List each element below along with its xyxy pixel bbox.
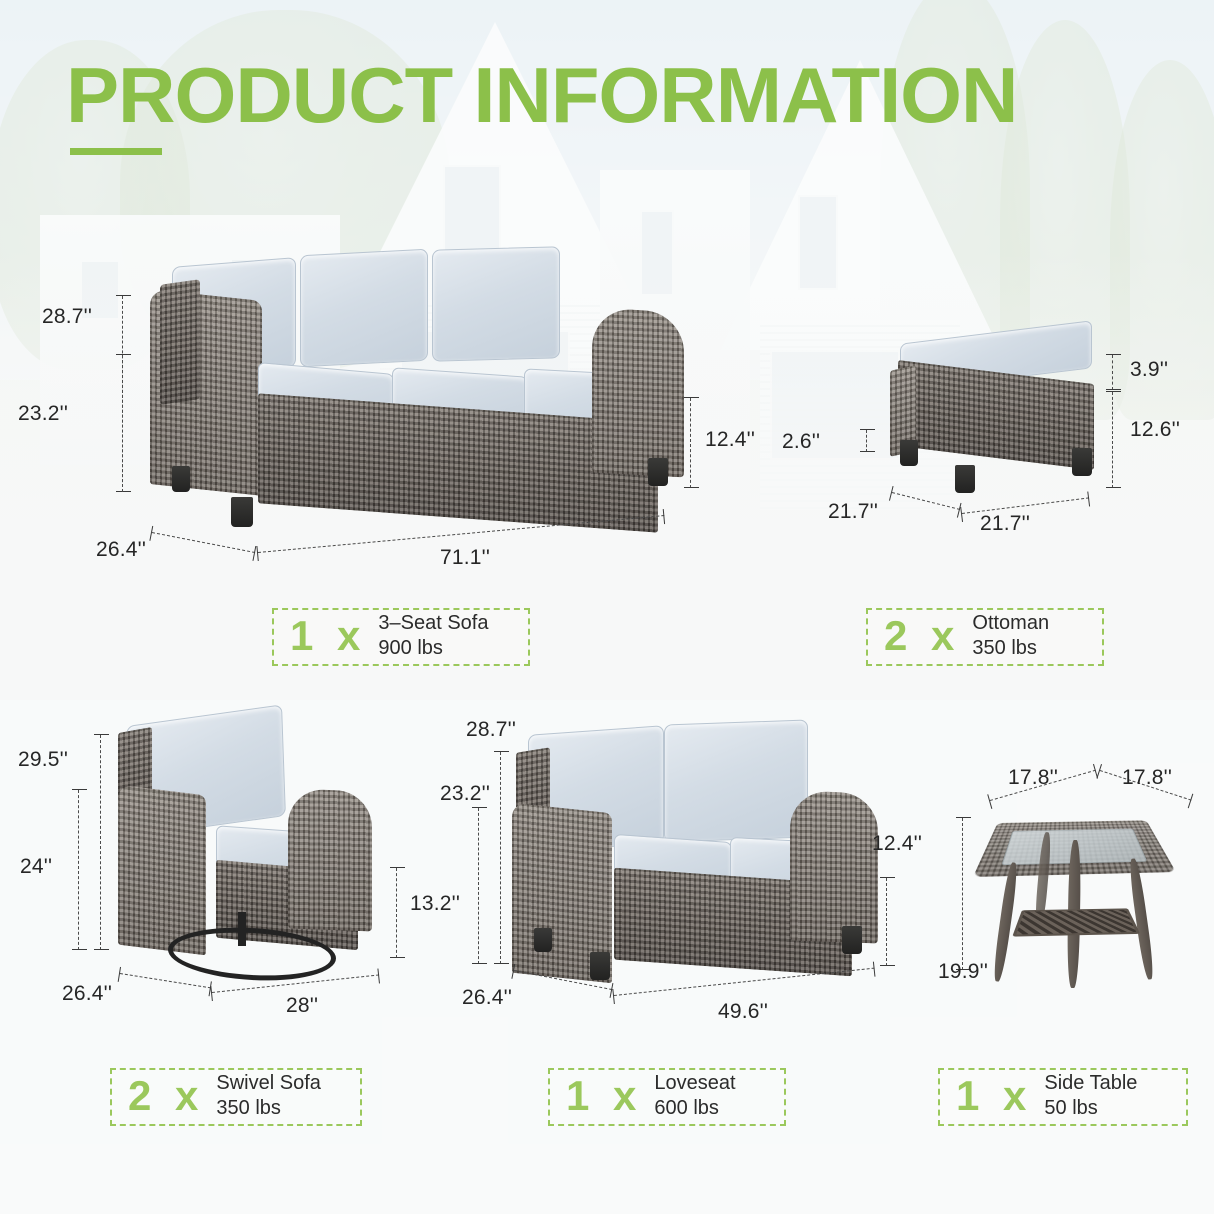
- swivel-left-arm: [118, 785, 206, 956]
- loveseat-right-arm: [790, 790, 878, 943]
- badge-qty-swivel-sofa: 2 x: [128, 1075, 204, 1117]
- badge-ottoman[interactable]: 2 x Ottoman 350 lbs: [866, 608, 1104, 666]
- badge-qty-ottoman: 2 x: [884, 615, 960, 657]
- badge-loveseat[interactable]: 1 x Loveseat 600 lbs: [548, 1068, 786, 1126]
- badge-name-ottoman: Ottoman: [972, 611, 1049, 636]
- loveseat-foot-front-right: [842, 926, 862, 954]
- badge-side-table[interactable]: 1 x Side Table 50 lbs: [938, 1068, 1188, 1126]
- side-table-top-width-label: 17.8'': [1122, 766, 1172, 790]
- sofa-back-rail: [160, 279, 200, 405]
- side-table-top-depth-label: 17.8'': [1008, 766, 1058, 790]
- loveseat-depth-label: 26.4'': [462, 986, 512, 1010]
- badge-weight-swivel-sofa: 350 lbs: [216, 1096, 321, 1121]
- side-table-height-line: [962, 818, 963, 970]
- badge-weight-loveseat: 600 lbs: [654, 1096, 735, 1121]
- ottoman-leg-height-line: [866, 430, 867, 452]
- swivel-depth-label: 26.4'': [62, 982, 112, 1006]
- badge-weight-side-table: 50 lbs: [1044, 1096, 1137, 1121]
- ottoman-leg-height-label: 2.6'': [782, 430, 820, 454]
- loveseat-arm-height-line: [478, 808, 479, 964]
- side-table-leg-front-left: [992, 862, 1020, 982]
- sofa-right-arm: [592, 308, 684, 478]
- sofa-width-label: 71.1'': [440, 546, 490, 570]
- badge-weight-three-seat-sofa: 900 lbs: [378, 636, 488, 661]
- loveseat-arm-height-label: 23.2'': [440, 782, 490, 806]
- loveseat-overall-height-line: [500, 752, 501, 964]
- loveseat-width-label: 49.6'': [718, 1000, 768, 1024]
- side-table-height-label: 19.9'': [938, 960, 988, 984]
- ottoman-body: [898, 360, 1094, 470]
- swivel-overall-height-line: [100, 735, 101, 950]
- loveseat-foot-front-left: [590, 952, 610, 980]
- sofa-arm-height-line: [122, 355, 123, 492]
- badge-swivel-sofa[interactable]: 2 x Swivel Sofa 350 lbs: [110, 1068, 362, 1126]
- sofa-depth-line: [152, 532, 255, 553]
- swivel-right-arm: [288, 789, 372, 932]
- loveseat-overall-height-label: 28.7'': [466, 718, 516, 742]
- ottoman-depth-line: [892, 492, 960, 510]
- ottoman-overall-height-line: [1112, 392, 1113, 488]
- badge-name-side-table: Side Table: [1044, 1071, 1137, 1096]
- sofa-seat-height-line: [690, 398, 691, 488]
- ottoman-foot-left: [900, 440, 918, 466]
- sofa-depth-label: 26.4'': [96, 538, 146, 562]
- page-title: PRODUCT INFORMATION: [66, 56, 1017, 134]
- badge-name-swivel-sofa: Swivel Sofa: [216, 1071, 321, 1096]
- loveseat-seat-height-line: [886, 878, 887, 966]
- swivel-width-label: 28'': [286, 994, 318, 1018]
- ottoman-cushion-height-label: 3.9'': [1130, 358, 1168, 382]
- swivel-overall-height-label: 29.5'': [18, 748, 68, 772]
- sofa-foot-front-left: [231, 497, 253, 527]
- sofa-foot-back-left: [172, 466, 190, 492]
- sofa-overall-height-label: 28.7'': [42, 305, 92, 329]
- loveseat-back-cushion-2: [664, 719, 808, 842]
- badge-three-seat-sofa[interactable]: 1 x 3–Seat Sofa 900 lbs: [272, 608, 530, 666]
- swivel-metal-stem: [238, 912, 246, 946]
- swivel-depth-line: [120, 973, 211, 988]
- badge-qty-loveseat: 1 x: [566, 1075, 642, 1117]
- loveseat-width-line: [614, 968, 875, 996]
- ottoman-cushion-height-line: [1112, 355, 1113, 390]
- side-table-lower-shelf: [1012, 908, 1140, 936]
- badge-qty-side-table: 1 x: [956, 1075, 1032, 1117]
- title-underline: [70, 148, 162, 155]
- sofa-seat-height-label: 12.4'': [705, 428, 755, 452]
- sofa-foot-front-right: [648, 458, 668, 486]
- side-table-leg-front-right: [1128, 858, 1156, 980]
- ottoman-width-label: 21.7'': [980, 512, 1030, 536]
- swivel-seat-height-line: [396, 868, 397, 958]
- swivel-arm-height-label: 24'': [20, 855, 52, 879]
- ottoman-foot-right: [1072, 448, 1092, 476]
- badge-name-three-seat-sofa: 3–Seat Sofa: [378, 611, 488, 636]
- swivel-arm-height-line: [78, 790, 79, 950]
- swivel-seat-height-label: 13.2'': [410, 892, 460, 916]
- ottoman-overall-height-label: 12.6'': [1130, 418, 1180, 442]
- sofa-arm-height-label: 23.2'': [18, 402, 68, 426]
- badge-qty-three-seat-sofa: 1 x: [290, 615, 366, 657]
- ottoman-foot-front: [955, 465, 975, 493]
- loveseat-foot-back-left: [534, 928, 552, 952]
- sofa-back-cushion-2: [300, 249, 428, 368]
- badge-name-loveseat: Loveseat: [654, 1071, 735, 1096]
- badge-weight-ottoman: 350 lbs: [972, 636, 1049, 661]
- ottoman-depth-label: 21.7'': [828, 500, 878, 524]
- sofa-back-cushion-3: [432, 246, 560, 361]
- loveseat-seat-height-label: 12.4'': [872, 832, 922, 856]
